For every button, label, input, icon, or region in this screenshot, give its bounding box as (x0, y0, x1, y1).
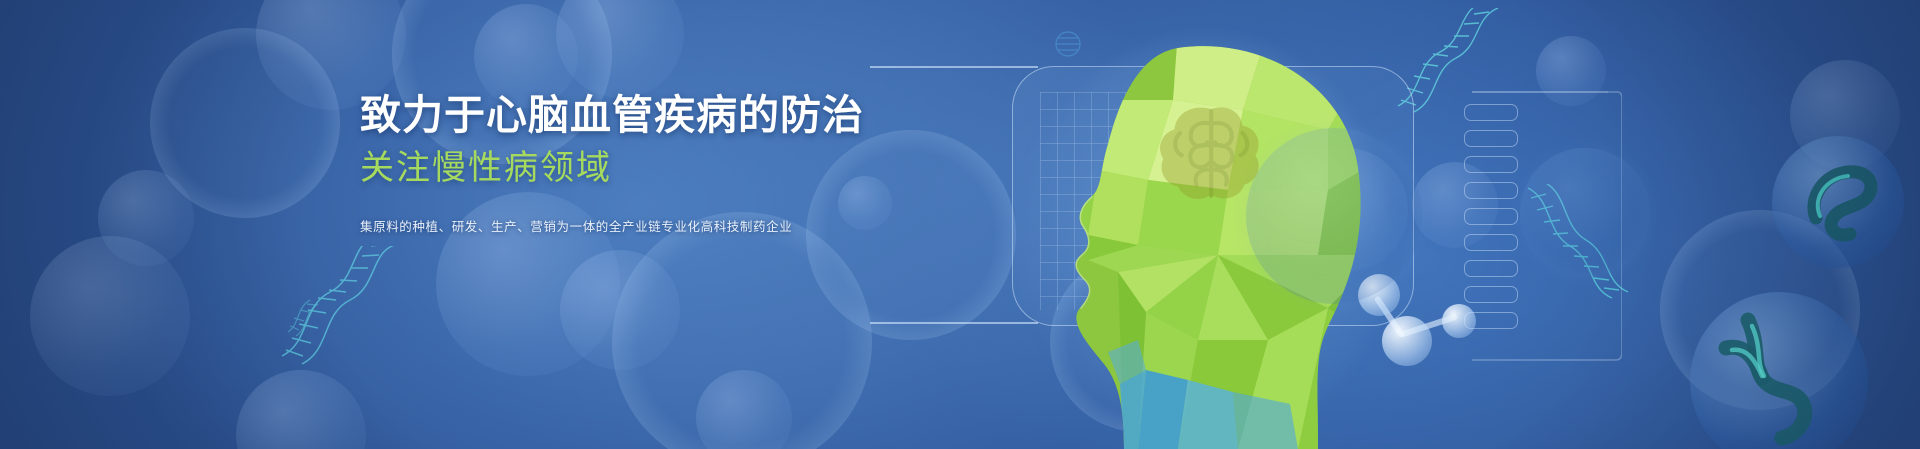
cell-icon (1246, 128, 1422, 304)
molecule-node (1442, 304, 1476, 338)
tagline: 集原料的种植、研发、生产、营销为一体的全产业链专业化高科技制药企业 (360, 216, 830, 235)
cell-icon (1520, 148, 1650, 278)
banner-copy: 致力于心脑血管疾病的防治 关注慢性病领域 集原料的种植、研发、生产、营销为一体的… (360, 92, 830, 235)
bokeh-circle (560, 250, 680, 370)
virus-cell-top-right (1772, 136, 1904, 268)
headline-suffix: 的防治 (738, 92, 864, 138)
virus-cell-bottom-right (1690, 292, 1868, 449)
bokeh-circle (236, 370, 366, 449)
headline-emphasis: 心脑血管疾病 (486, 92, 738, 138)
bacteria-icon (1772, 136, 1904, 268)
hud-top-line (870, 66, 1038, 68)
headline-prefix: 致力于 (360, 92, 486, 138)
bacteria-icon (1690, 292, 1868, 449)
subheadline: 关注慢性病领域 (360, 147, 830, 189)
headline: 致力于心脑血管疾病的防治 (360, 92, 830, 140)
bokeh-circle (838, 176, 892, 230)
dna-helix-icon (280, 290, 330, 340)
molecule-node (1382, 316, 1432, 366)
hud-bottom-line (870, 322, 1038, 324)
hero-banner: 致力于心脑血管疾病的防治 关注慢性病领域 集原料的种植、研发、生产、营销为一体的… (0, 0, 1920, 449)
bokeh-circle (806, 130, 1016, 340)
